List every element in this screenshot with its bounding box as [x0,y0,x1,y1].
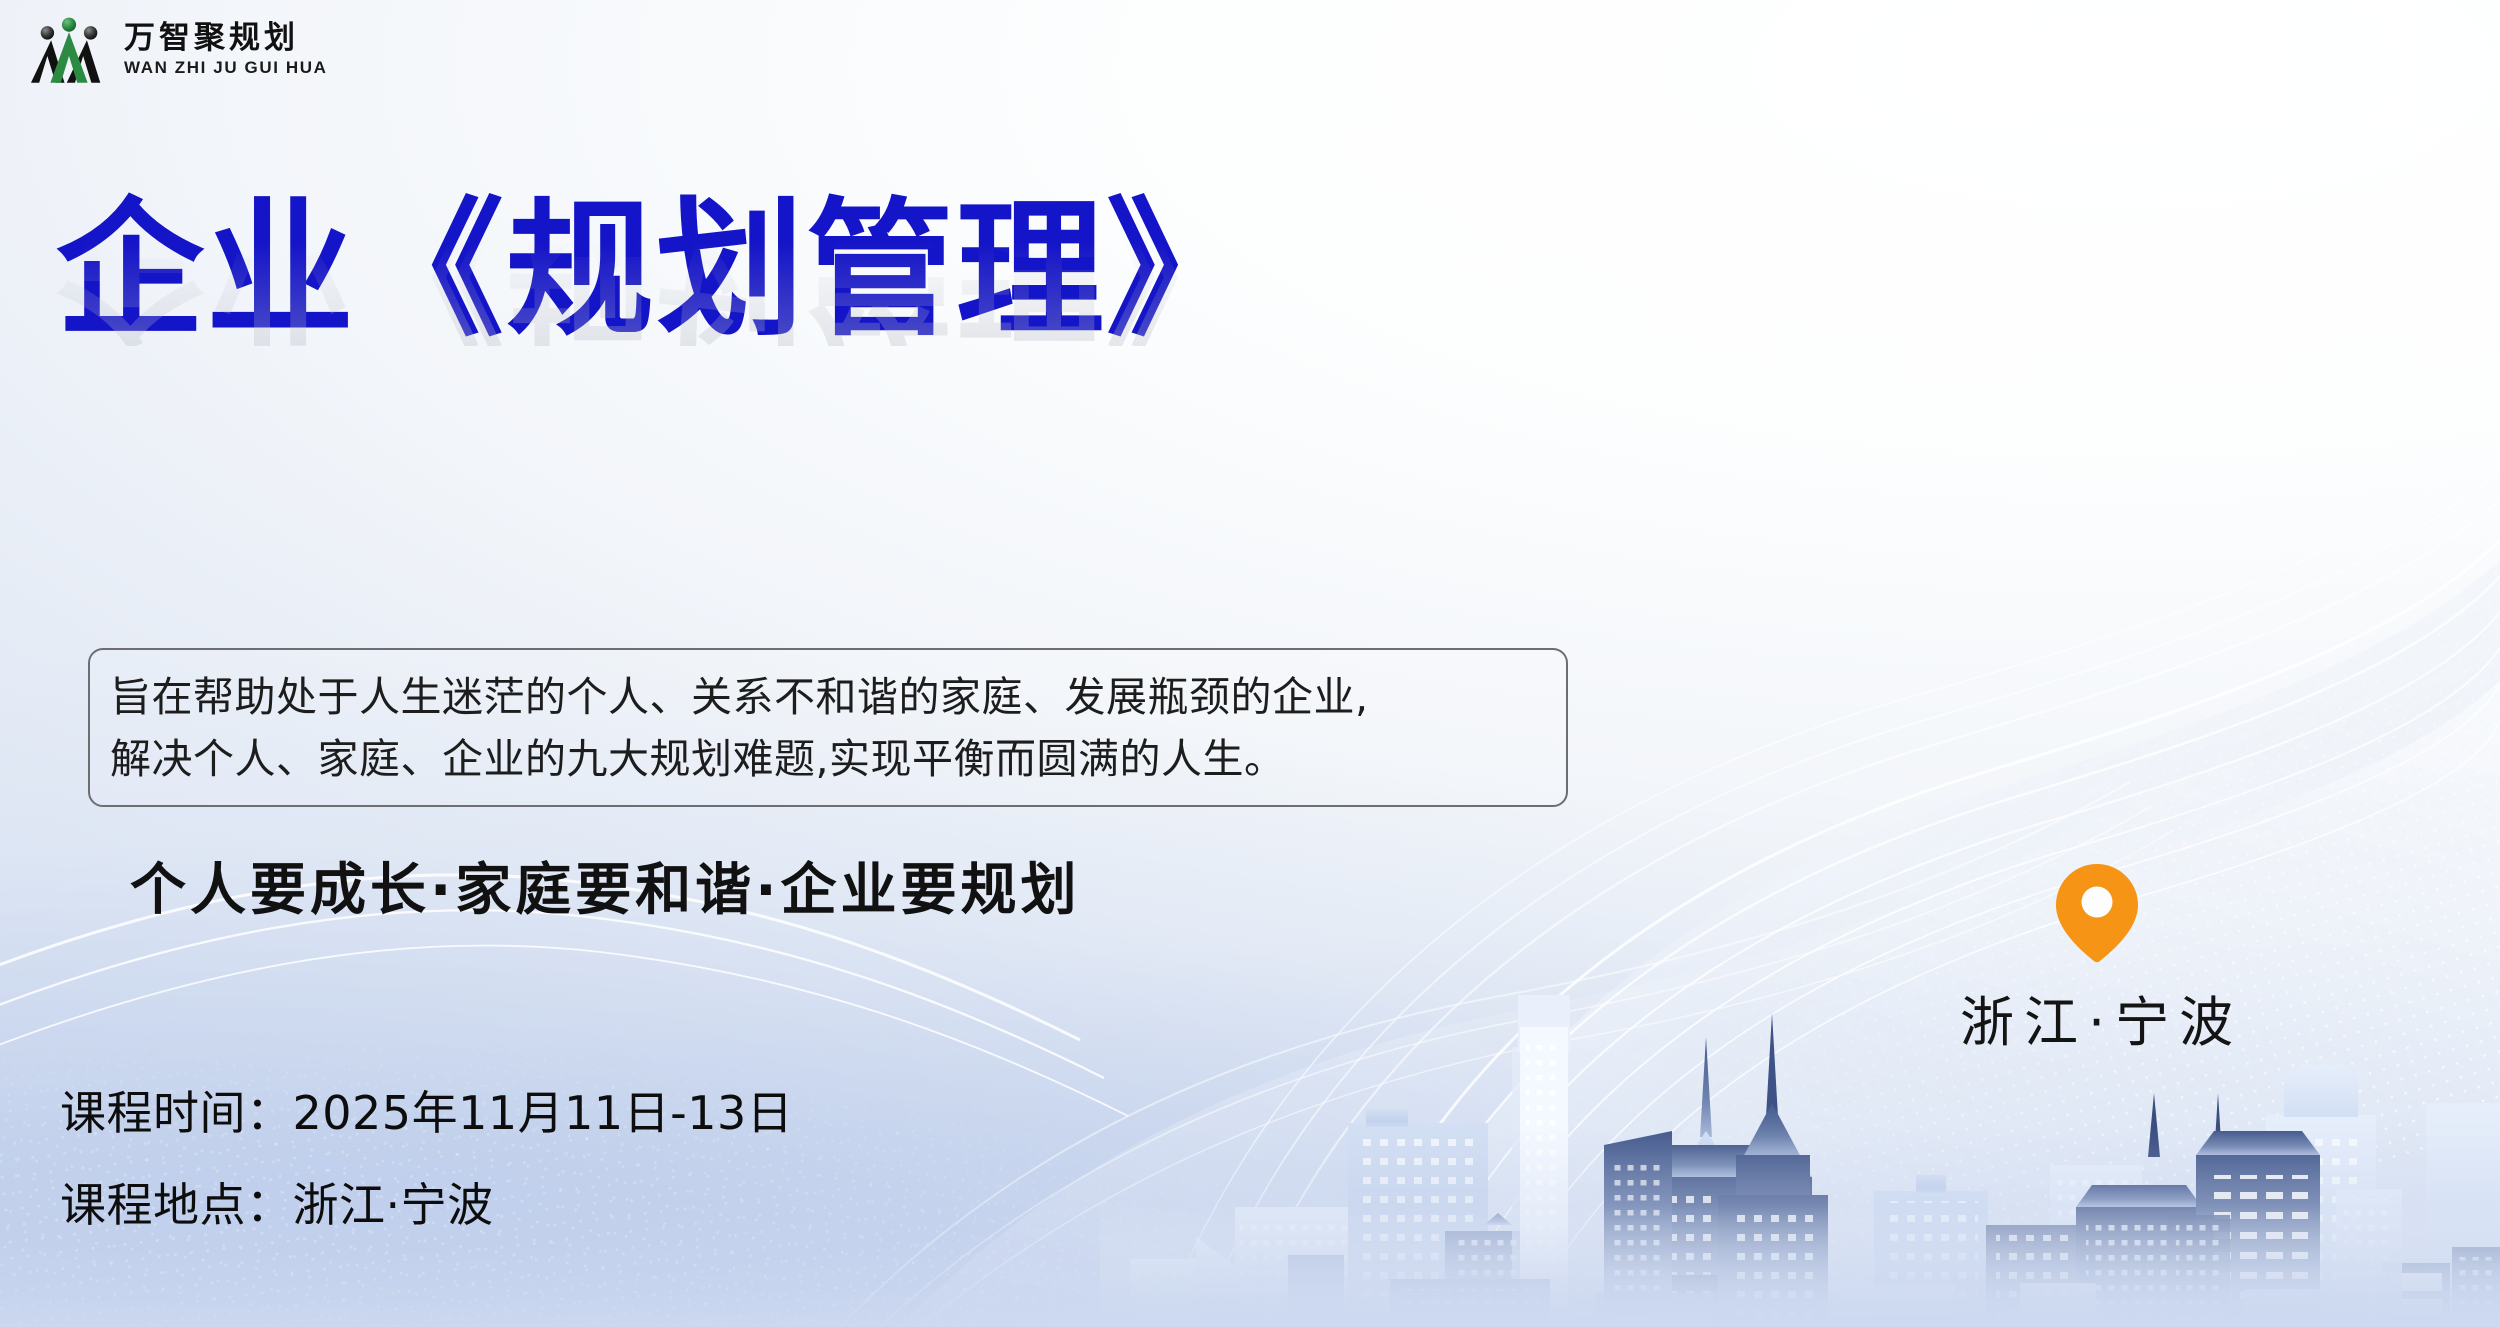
three-people-logo-icon [28,14,110,86]
brand-logo[interactable]: 万智聚规划 WAN ZHI JU GUI HUA [28,14,328,86]
course-place-row: 课程地点：浙江·宁波 [60,1182,793,1228]
description-box: 旨在帮助处于人生迷茫的个人、关系不和谐的家庭、发展瓶颈的企业, 解决个人、家庭、… [88,648,1568,807]
brand-name-cn: 万智聚规划 [124,21,328,56]
tagline: 个人要成长·家庭要和谐·企业要规划 [130,845,1081,926]
location-label: 浙江·宁波 [1950,978,2243,1057]
course-info: 课程时间：2025年11月11日-13日 课程地点：浙江·宁波 [60,1090,793,1228]
page-title-reflection: 企业《规划管理》 [56,238,1756,346]
description-line-2: 解决个人、家庭、企业的九大规划难题,实现平衡而圆满的人生。 [110,728,1546,790]
course-time-row: 课程时间：2025年11月11日-13日 [60,1090,793,1136]
headline-block: 企业《规划管理》 企业《规划管理》 [56,196,1756,454]
description-line-1: 旨在帮助处于人生迷茫的个人、关系不和谐的家庭、发展瓶颈的企业, [110,666,1546,728]
location-badge: 浙江·宁波 [1950,860,2243,1057]
map-pin-icon [2050,860,2144,964]
brand-name-en: WAN ZHI JU GUI HUA [124,58,328,78]
brand-logo-text: 万智聚规划 WAN ZHI JU GUI HUA [124,21,328,78]
poster-canvas: 万智聚规划 WAN ZHI JU GUI HUA 企业《规划管理》 企业《规划管… [0,0,2500,1327]
